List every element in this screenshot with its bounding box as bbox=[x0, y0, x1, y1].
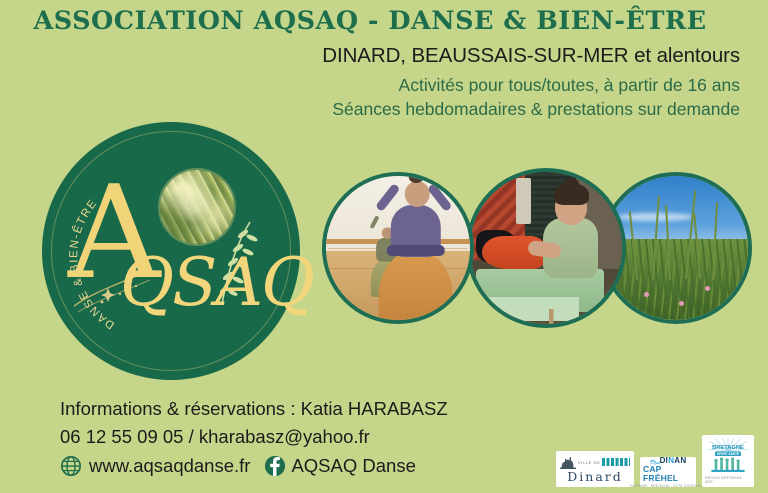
website-text[interactable]: www.aqsaqdanse.fr bbox=[89, 455, 250, 477]
page-title: ASSOCIATION AQSAQ - DANSE & BIEN-ÊTRE bbox=[0, 0, 740, 36]
partner-logo-dinard: VILLE DE Dinard bbox=[556, 451, 634, 487]
facebook-text[interactable]: AQSAQ Danse bbox=[291, 455, 415, 477]
facebook-icon[interactable] bbox=[264, 455, 286, 477]
svg-text:DANSE & BIEN-ÊTRE: DANSE & BIEN-ÊTRE bbox=[68, 197, 117, 331]
bretagne-badge-icon: BRETAGNE SPORT SANTÉ bbox=[705, 438, 751, 475]
logo-arc-text: DANSE & BIEN-ÊTRE bbox=[42, 122, 300, 380]
partner-logo-dinan-cap-frehel: DINAN CAP FRÉHEL TOURISME . BRETAGNE . C… bbox=[640, 457, 696, 487]
photo-dance-content bbox=[326, 176, 470, 320]
footer-contact: Informations & réservations : Katia HARA… bbox=[60, 398, 448, 477]
svg-text:SPORT SANTÉ: SPORT SANTÉ bbox=[717, 451, 739, 456]
photo-massage-content bbox=[470, 172, 622, 324]
logo-arc-label: DANSE & BIEN-ÊTRE bbox=[68, 197, 117, 331]
partner-logo-bretagne-sport-sante: BRETAGNE SPORT SANTÉ RÉGION BRETAGNE . A… bbox=[702, 435, 754, 487]
association-logo: A QSAQ DANSE & BIEN-ÊTRE bbox=[42, 122, 300, 380]
dinard-wordmark: Dinard bbox=[567, 471, 623, 484]
subtitle-sessions: Séances hebdomadaires & prestations sur … bbox=[0, 99, 740, 120]
poster-root: ASSOCIATION AQSAQ - DANSE & BIEN-ÊTRE DI… bbox=[0, 0, 768, 493]
castle-icon bbox=[560, 456, 576, 469]
subtitle-locations: DINARD, BEAUSSAIS-SUR-MER et alentours bbox=[0, 44, 740, 68]
photo-massage bbox=[466, 168, 626, 328]
dinan-fine-print: TOURISME . BRETAGNE . CÔTE D'ÉMERAUDE bbox=[629, 484, 707, 488]
dinard-bar-pattern bbox=[602, 458, 630, 466]
web-social-line: www.aqsaqdanse.fr AQSAQ Danse bbox=[60, 455, 448, 477]
header: ASSOCIATION AQSAQ - DANSE & BIEN-ÊTRE DI… bbox=[0, 0, 768, 120]
globe-icon bbox=[60, 455, 82, 477]
dinan-subtitle: CAP FRÉHEL bbox=[643, 465, 693, 484]
photo-dance bbox=[322, 172, 474, 324]
dinard-logo-top: VILLE DE bbox=[560, 455, 630, 470]
subtitle-activities: Activités pour tous/toutes, à partir de … bbox=[0, 75, 740, 96]
dinan-name: DINAN bbox=[660, 456, 687, 465]
svg-text:BRETAGNE: BRETAGNE bbox=[712, 445, 744, 451]
phone-email-line: 06 12 55 09 05 / kharabasz@yahoo.fr bbox=[60, 426, 448, 448]
dinard-small-text: VILLE DE bbox=[578, 460, 600, 465]
partner-logos: VILLE DE Dinard DINAN CAP FRÉHEL TOURISM… bbox=[556, 435, 754, 487]
contact-line: Informations & réservations : Katia HARA… bbox=[60, 398, 448, 420]
bretagne-fine-print: RÉGION BRETAGNE . ARS bbox=[705, 476, 751, 484]
